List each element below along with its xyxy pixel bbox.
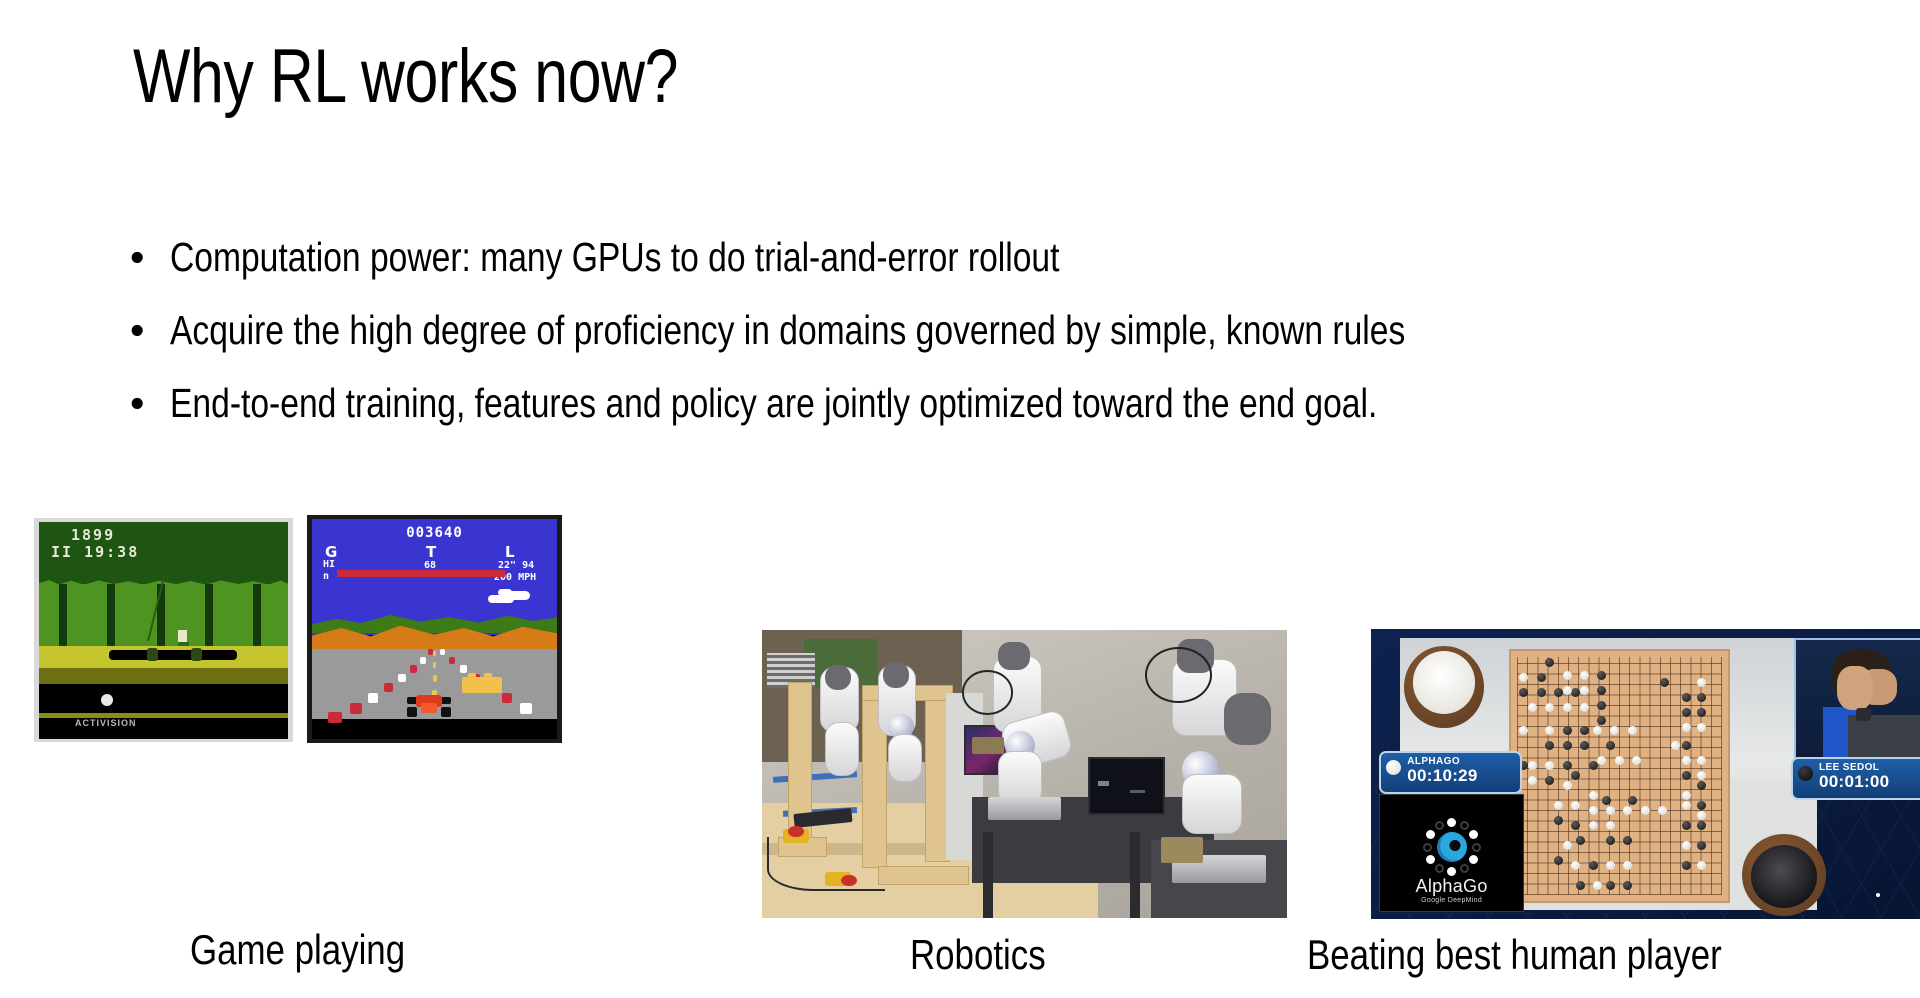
pitfall-item-icon bbox=[101, 694, 113, 706]
go-stone-black bbox=[1537, 688, 1546, 697]
robotics-arm-base bbox=[988, 797, 1062, 820]
go-stone-white bbox=[1671, 741, 1680, 750]
slide-canvas: Why RL works now? • Computation power: m… bbox=[0, 0, 1920, 998]
lee-sedol-player-name: LEE SEDOL bbox=[1819, 762, 1920, 773]
go-stone-white bbox=[1580, 686, 1589, 695]
racing-label-l: L bbox=[505, 543, 515, 561]
bullet-point-icon: • bbox=[130, 228, 164, 287]
go-stone-white bbox=[1563, 671, 1572, 680]
alphago-logo-ring bbox=[1423, 818, 1481, 876]
robotics-gripper bbox=[1161, 837, 1203, 863]
alphago-clock-value: 00:10:29 bbox=[1407, 767, 1513, 785]
alphago-logo-dot bbox=[1423, 843, 1432, 852]
go-stone-black bbox=[1580, 726, 1589, 735]
go-stone-white bbox=[1641, 806, 1650, 815]
racing-curb bbox=[520, 703, 532, 714]
racing-curb bbox=[449, 657, 455, 664]
robotics-arm-segment bbox=[1182, 774, 1242, 834]
go-stone-white bbox=[1589, 806, 1598, 815]
alphago-logo-dot bbox=[1469, 830, 1478, 839]
page-title: Why RL works now? bbox=[133, 34, 1333, 120]
alphago-black-stones bbox=[1751, 845, 1818, 908]
robotics-monitor bbox=[1088, 757, 1166, 816]
racing-opponent-detail bbox=[484, 673, 492, 679]
go-stone-black bbox=[1682, 741, 1691, 750]
robotics-table-leg bbox=[983, 832, 994, 918]
go-stone-black bbox=[1554, 816, 1563, 825]
go-stone-black bbox=[1682, 771, 1691, 780]
lee-sedol-clock-badge: LEE SEDOL 00:01:00 bbox=[1791, 757, 1920, 801]
robotics-table-leg bbox=[1130, 832, 1141, 918]
go-stone-black bbox=[1597, 686, 1606, 695]
pitfall-timer: II 19:38 bbox=[51, 543, 139, 561]
racing-score: 003640 bbox=[312, 525, 557, 541]
racing-curb bbox=[328, 712, 342, 723]
robotics-wood-frame-base bbox=[878, 866, 969, 885]
atari-racing-screen: 003640 G HI n T 68 L 22" 94 200 MPH bbox=[312, 519, 557, 739]
list-item: • End-to-end training, features and poli… bbox=[130, 374, 1860, 433]
go-stone-black bbox=[1589, 861, 1598, 870]
racing-lane-dash bbox=[433, 675, 437, 682]
racing-label-n: n bbox=[323, 571, 329, 582]
pitfall-tree-trunk bbox=[253, 584, 261, 646]
pitfall-dirt bbox=[39, 668, 288, 684]
go-stone-white bbox=[1682, 791, 1691, 800]
alphago-logo-dot bbox=[1435, 864, 1444, 873]
caption-alphago: Beating best human player bbox=[1307, 930, 1722, 980]
go-stone-white bbox=[1628, 726, 1637, 735]
go-stone-black bbox=[1628, 796, 1637, 805]
go-stone-white bbox=[1593, 726, 1602, 735]
go-stone-black bbox=[1682, 821, 1691, 830]
alphago-logo-dot bbox=[1460, 821, 1469, 830]
robotics-arm-joint-dark bbox=[883, 662, 909, 688]
go-stone-black bbox=[1589, 761, 1598, 770]
go-stone-white bbox=[1589, 791, 1598, 800]
robotics-arm-joint-dark bbox=[998, 642, 1030, 671]
go-stone-white bbox=[1580, 671, 1589, 680]
go-stone-black bbox=[1563, 726, 1572, 735]
lee-sedol-watch bbox=[1856, 708, 1871, 721]
atari-pitfall-screen: 1899 II 19:38 ACTIVISION bbox=[39, 522, 288, 739]
racing-curb bbox=[420, 657, 426, 664]
go-stone-white bbox=[1682, 801, 1691, 810]
pitfall-score: 1899 bbox=[71, 526, 115, 544]
figure-alphago: ALPHAGO 00:10:29 AlphaGo Google Dee bbox=[1371, 629, 1920, 919]
go-stone-white bbox=[1589, 821, 1598, 830]
pitfall-log bbox=[109, 650, 237, 660]
alphago-go-board bbox=[1509, 649, 1730, 904]
go-stone-black bbox=[1537, 673, 1546, 682]
pitfall-tree-trunk bbox=[59, 584, 67, 646]
bullet-point-icon: • bbox=[130, 374, 164, 433]
go-stone-white bbox=[1554, 801, 1563, 810]
racing-label-hi: HI bbox=[323, 559, 335, 570]
go-stone-black bbox=[1606, 741, 1615, 750]
alphago-logo-dot bbox=[1426, 830, 1435, 839]
robotics-arm-segment bbox=[825, 722, 859, 776]
racing-curb bbox=[368, 693, 378, 703]
racing-lane-dash bbox=[433, 651, 436, 656]
racing-player-car bbox=[407, 695, 451, 717]
racing-bottom-bar bbox=[312, 719, 557, 739]
go-stone-black bbox=[1576, 836, 1585, 845]
pitfall-brand-label: ACTIVISION bbox=[75, 718, 137, 728]
alphago-white-stone-indicator bbox=[1386, 760, 1401, 775]
racing-opponent-car bbox=[462, 677, 502, 693]
robotics-arm-joint-dark bbox=[1224, 693, 1271, 745]
alphago-logo-dot bbox=[1472, 843, 1481, 852]
alphago-logo-dot bbox=[1447, 867, 1456, 876]
alphago-lee-sedol-video-inset bbox=[1794, 638, 1920, 764]
alphago-logo-text: AlphaGo bbox=[1416, 876, 1488, 896]
pitfall-status-bar bbox=[39, 684, 288, 739]
racing-curb bbox=[440, 649, 445, 655]
go-stone-white bbox=[1606, 806, 1615, 815]
lee-sedol-suit bbox=[1848, 715, 1920, 761]
go-stone-black bbox=[1576, 881, 1585, 890]
alphago-logo: AlphaGo Google DeepMind bbox=[1379, 794, 1524, 912]
robotics-cable bbox=[1145, 647, 1212, 703]
robotics-monitor-content bbox=[1098, 781, 1108, 786]
alphago-logo-dot bbox=[1426, 855, 1435, 864]
caption-robotics: Robotics bbox=[910, 930, 1046, 980]
robotics-arm-segment bbox=[888, 734, 922, 782]
figure-atari-racing: 003640 G HI n T 68 L 22" 94 200 MPH bbox=[307, 515, 562, 743]
go-stone-white bbox=[1697, 756, 1706, 765]
go-stone-black bbox=[1597, 671, 1606, 680]
go-stone-black bbox=[1563, 761, 1572, 770]
go-stone-white bbox=[1563, 841, 1572, 850]
bullet-text: End-to-end training, features and policy… bbox=[170, 374, 1901, 433]
go-stone-white bbox=[1563, 781, 1572, 790]
bullet-text: Acquire the high degree of proficiency i… bbox=[170, 301, 1901, 360]
bullet-text: Computation power: many GPUs to do trial… bbox=[170, 228, 1901, 287]
alphago-logo-dot bbox=[1447, 818, 1456, 827]
pitfall-tree-trunk bbox=[107, 584, 115, 646]
go-stone-white bbox=[1528, 761, 1537, 770]
alphago-white-stones bbox=[1413, 651, 1476, 714]
go-stone-black bbox=[1563, 741, 1572, 750]
racing-label-t: T bbox=[426, 543, 436, 561]
bullet-point-icon: • bbox=[130, 301, 164, 360]
caption-game-playing: Game playing bbox=[190, 925, 405, 975]
go-stone-white bbox=[1682, 756, 1691, 765]
go-stone-white bbox=[1528, 776, 1537, 785]
go-stone-white bbox=[1563, 686, 1572, 695]
go-stone-white bbox=[1519, 726, 1528, 735]
figure-atari-pitfall: 1899 II 19:38 ACTIVISION bbox=[34, 518, 293, 742]
alphago-logo-subtitle: Google DeepMind bbox=[1421, 896, 1482, 906]
robotics-monitor-content bbox=[1130, 790, 1145, 793]
robotics-arm-joint-dark bbox=[825, 665, 851, 691]
robotics-cable bbox=[962, 670, 1013, 714]
lee-sedol-clock-value: 00:01:00 bbox=[1819, 773, 1920, 791]
alphago-clock-badge: ALPHAGO 00:10:29 bbox=[1379, 751, 1522, 795]
racing-curb bbox=[350, 703, 362, 714]
alphago-logo-dot bbox=[1469, 855, 1478, 864]
racing-progress-bar bbox=[337, 570, 505, 577]
racing-lane-dash bbox=[433, 662, 436, 668]
robotics-cable-run bbox=[767, 837, 885, 891]
go-stone-black bbox=[1580, 741, 1589, 750]
go-stone-white bbox=[1563, 703, 1572, 712]
racing-curb bbox=[410, 665, 417, 673]
racing-curb bbox=[502, 693, 512, 703]
pitfall-log-eye bbox=[191, 648, 202, 661]
go-stone-white bbox=[1632, 756, 1641, 765]
bullet-list: • Computation power: many GPUs to do tri… bbox=[130, 228, 1860, 447]
robotics-monitor-screen bbox=[1090, 759, 1164, 814]
alphago-logo-dot bbox=[1460, 864, 1469, 873]
pitfall-tree-trunk bbox=[205, 584, 213, 646]
lee-sedol-hand bbox=[1837, 666, 1873, 710]
racing-opponent-detail bbox=[468, 673, 476, 679]
racing-curb bbox=[384, 683, 393, 692]
alphago-backdrop-accent-dot bbox=[1876, 893, 1880, 897]
racing-cloud bbox=[498, 589, 512, 596]
list-item: • Computation power: many GPUs to do tri… bbox=[130, 228, 1860, 287]
list-item: • Acquire the high degree of proficiency… bbox=[130, 301, 1860, 360]
racing-curb bbox=[460, 665, 467, 673]
go-stone-white bbox=[1615, 756, 1624, 765]
racing-curb bbox=[398, 674, 406, 682]
go-stone-black bbox=[1602, 796, 1611, 805]
alphago-logo-dot bbox=[1435, 821, 1444, 830]
lee-sedol-black-stone-indicator bbox=[1798, 766, 1813, 781]
pitfall-log-eye bbox=[147, 648, 158, 661]
robotics-gripper bbox=[972, 737, 1004, 754]
alphago-logo-core-icon bbox=[1437, 832, 1467, 862]
figure-robotics bbox=[762, 630, 1287, 918]
